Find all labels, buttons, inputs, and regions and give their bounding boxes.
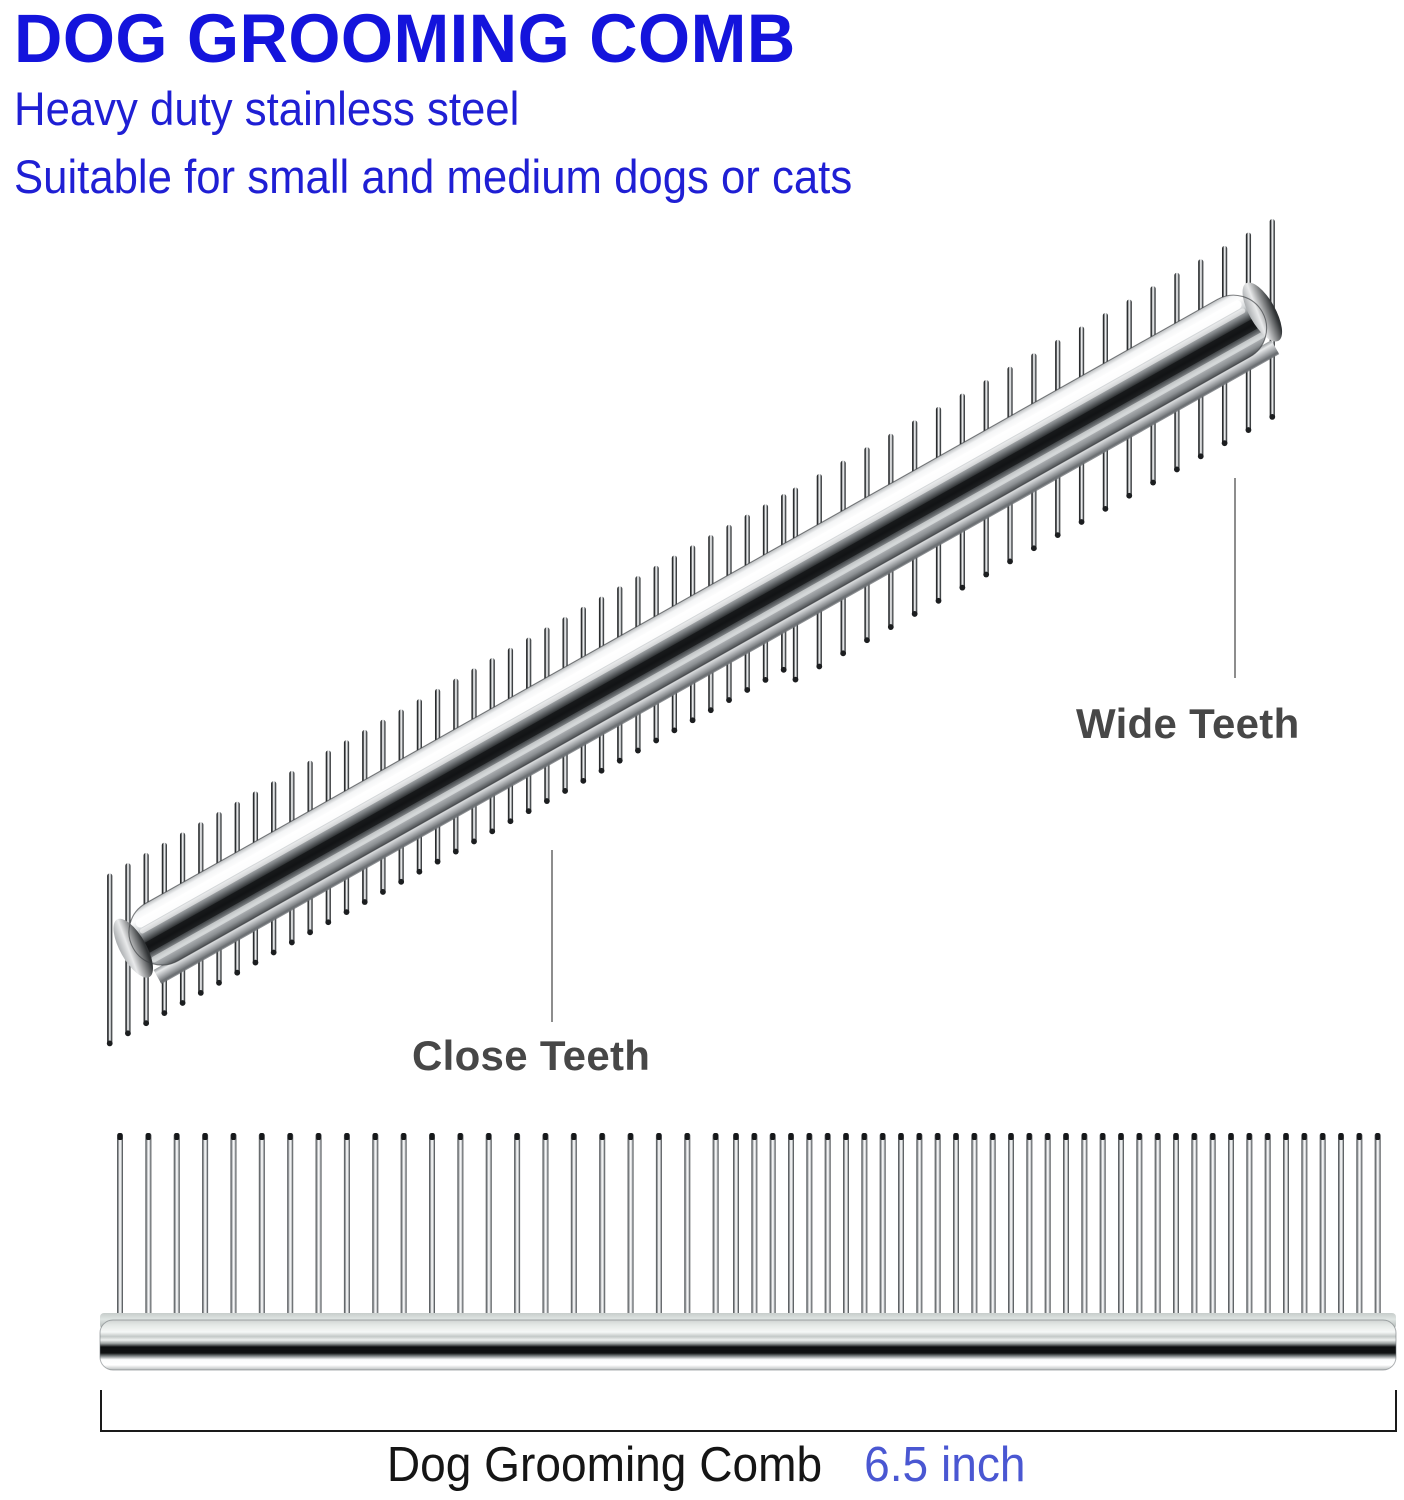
comb-tooth-tip [840, 650, 846, 656]
comb-tooth [953, 1133, 959, 1327]
comb-tooth-tip [161, 1010, 167, 1016]
comb-tooth-tip [807, 1133, 812, 1140]
comb-tooth-tip [1082, 1133, 1087, 1140]
comb-tooth [1191, 1133, 1197, 1327]
comb-tooth-tip [1198, 453, 1204, 459]
comb-tooth-tip [1320, 1133, 1325, 1140]
comb-tooth-tip [899, 1133, 904, 1140]
comb-tooth [713, 1133, 719, 1327]
comb-tooth [898, 1133, 904, 1327]
comb-tooth [1045, 1133, 1051, 1327]
comb-tooth-tip [1055, 532, 1061, 538]
comb-tooth [372, 1133, 378, 1327]
comb-tooth-tip [1174, 467, 1180, 473]
comb-tooth [990, 1133, 996, 1327]
comb-tooth-tip [954, 1133, 959, 1140]
comb-tooth-tip [1126, 493, 1132, 499]
comb-elevation-illustration [0, 1105, 1404, 1395]
comb-tooth-tip [216, 980, 222, 986]
caption-product-name: Dog Grooming Comb [387, 1437, 822, 1493]
comb-tooth-tip [562, 788, 568, 794]
comb-tooth [1356, 1133, 1362, 1327]
comb-tooth-tip [515, 1133, 520, 1140]
comb-tooth [1100, 1133, 1106, 1327]
comb-tooth-tip [825, 1133, 830, 1140]
comb-tooth-tip [690, 717, 696, 723]
comb-tooth-tip [844, 1133, 849, 1140]
comb-tooth-tip [880, 1133, 885, 1140]
caption-size: 6.5 inch [864, 1437, 1025, 1493]
comb-tooth [1155, 1133, 1161, 1327]
comb-tooth-tip [653, 738, 659, 744]
comb-tooth-tip [401, 1133, 406, 1140]
comb-tooth-tip [416, 869, 422, 875]
comb-tooth-tip [685, 1133, 690, 1140]
comb-tooth [542, 1133, 548, 1327]
comb-tooth-tip [635, 748, 641, 754]
comb-tooth-tip [1155, 1133, 1160, 1140]
comb-tooth [259, 1133, 265, 1327]
comb-tooth [1228, 1133, 1234, 1327]
comb-tooth-tip [781, 667, 787, 673]
comb-tooth [230, 1133, 236, 1327]
comb-tooth-tip [398, 879, 404, 885]
comb-tooth-tip [793, 677, 799, 683]
comb-tooth-tip [580, 778, 586, 784]
comb-tooth-tip [1302, 1133, 1307, 1140]
comb-tooth [1246, 1133, 1252, 1327]
comb-tooth [1063, 1133, 1069, 1327]
bracket-tick-right [1395, 1390, 1397, 1432]
comb-tooth [145, 1133, 151, 1327]
comb-angled-illustration [0, 130, 1404, 1090]
comb-tooth-tip [752, 1133, 757, 1140]
comb-tooth-tip [143, 1020, 149, 1026]
comb-tooth-tip [1357, 1133, 1362, 1140]
comb-tooth-tip [617, 758, 623, 764]
comb-tooth [806, 1133, 812, 1327]
comb-tooth-tip [125, 1030, 131, 1036]
comb-tooth [1026, 1133, 1032, 1327]
comb-tooth-tip [789, 1133, 794, 1140]
comb-tooth-tip [972, 1133, 977, 1140]
comb-tooth [174, 1133, 180, 1327]
page-title: DOG GROOMING COMB [14, 0, 1353, 78]
comb-tooth-tip [628, 1133, 633, 1140]
comb-tooth-tip [1339, 1133, 1344, 1140]
comb-tooth-tip [253, 960, 259, 966]
comb-tooth [861, 1133, 867, 1327]
comb-tooth-tip [959, 585, 965, 591]
comb-tooth [1118, 1133, 1124, 1327]
comb-tooth-tip [259, 1133, 264, 1140]
comb-tooth-tip [430, 1133, 435, 1140]
comb-tooth-tip [983, 572, 989, 578]
bracket-baseline [100, 1430, 1397, 1432]
comb-tooth-tip [1269, 414, 1275, 420]
comb-tooth [457, 1133, 463, 1327]
comb-tooth-tip [734, 1133, 739, 1140]
bracket-tick-left [100, 1390, 102, 1432]
callout-label-close-teeth: Close Teeth [412, 1032, 650, 1080]
comb-tooth [788, 1133, 794, 1327]
comb-tooth [1081, 1133, 1087, 1327]
callout-leader-line-wide [1234, 478, 1236, 678]
comb-tooth [1265, 1133, 1271, 1327]
comb-tooth-tip [1031, 545, 1037, 551]
comb-tooth-tip [713, 1133, 718, 1140]
comb-tooth-tip [373, 1133, 378, 1140]
comb-tooth-tip [1229, 1133, 1234, 1140]
comb-tooth [316, 1133, 322, 1327]
comb-tooth-tip [234, 970, 240, 976]
product-infographic: DOG GROOMING COMB Heavy duty stainless s… [0, 0, 1404, 1500]
comb-elevation-teeth-group [117, 1133, 1381, 1327]
comb-tooth-tip [1027, 1133, 1032, 1140]
comb-tooth [117, 1133, 123, 1327]
comb-tooth-tip [198, 990, 204, 996]
comb-tooth [287, 1133, 293, 1327]
comb-tooth [628, 1133, 634, 1327]
comb-tooth-tip [1246, 427, 1252, 433]
comb-tooth-tip [1247, 1133, 1252, 1140]
comb-tooth-tip [1064, 1133, 1069, 1140]
comb-tooth [202, 1133, 208, 1327]
comb-tooth-tip [289, 940, 295, 946]
comb-tooth [751, 1133, 757, 1327]
comb-tooth-tip [453, 849, 459, 855]
comb-tooth [684, 1133, 690, 1327]
comb-tooth-tip [526, 808, 532, 814]
comb-tooth-tip [1150, 480, 1156, 486]
caption: Dog Grooming Comb 6.5 inch [0, 1437, 1404, 1493]
comb-handle [106, 277, 1296, 994]
comb-tooth-tip [744, 687, 750, 693]
comb-tooth-tip [316, 1133, 321, 1140]
comb-tooth-tip [708, 707, 714, 713]
comb-tooth-tip [1045, 1133, 1050, 1140]
comb-tooth [843, 1133, 849, 1327]
comb-tooth-tip [864, 637, 870, 643]
comb-tooth-tip [1210, 1133, 1215, 1140]
comb-tooth-tip [1265, 1133, 1270, 1140]
dimension-bracket [100, 1390, 1397, 1432]
comb-tooth [599, 1133, 605, 1327]
comb-tooth [1210, 1133, 1216, 1327]
comb-tooth [344, 1133, 350, 1327]
callout-leader-line-close [551, 850, 553, 1022]
comb-tooth-tip [380, 889, 386, 895]
comb-tooth-tip [671, 727, 677, 733]
comb-tooth [1338, 1133, 1344, 1327]
comb-tooth-tip [1284, 1133, 1289, 1140]
comb-tooth-tip [990, 1133, 995, 1140]
comb-tooth-tip [1007, 558, 1013, 564]
comb-tooth [401, 1133, 407, 1327]
subtitle-line-1: Heavy duty stainless steel [14, 80, 1297, 137]
comb-tooth [107, 873, 112, 1045]
comb-tooth [1320, 1133, 1326, 1327]
comb-tooth-tip [599, 768, 605, 774]
comb-tooth-tip [231, 1133, 236, 1140]
comb-tooth [1301, 1133, 1307, 1327]
comb-tooth-tip [1079, 519, 1085, 525]
comb-tooth-tip [543, 1133, 548, 1140]
comb-tooth-tip [770, 1133, 775, 1140]
comb-tooth-tip [1192, 1133, 1197, 1140]
comb-tooth [1375, 1133, 1381, 1327]
comb-tooth-tip [912, 611, 918, 617]
comb-tooth [486, 1133, 492, 1327]
comb-tooth-tip [888, 624, 894, 630]
comb-tooth-tip [600, 1133, 605, 1140]
comb-tooth-tip [935, 1133, 940, 1140]
comb-tooth-tip [471, 839, 477, 845]
comb-tooth-tip [816, 664, 822, 670]
comb-tooth [916, 1133, 922, 1327]
comb-tooth-tip [362, 899, 368, 905]
comb-tooth [571, 1133, 577, 1327]
comb-tooth-tip [118, 1133, 123, 1140]
comb-tooth-tip [508, 818, 514, 824]
comb-tooth-tip [1102, 506, 1108, 512]
comb-tooth [880, 1133, 886, 1327]
comb-tooth [1136, 1133, 1142, 1327]
comb-tooth-tip [1009, 1133, 1014, 1140]
comb-tooth-tip [1100, 1133, 1105, 1140]
comb-tooth [514, 1133, 520, 1327]
comb-tooth-tip [571, 1133, 576, 1140]
callout-label-wide-teeth: Wide Teeth [1076, 700, 1300, 748]
comb-tooth [971, 1133, 977, 1327]
comb-tooth [1008, 1133, 1014, 1327]
comb-tooth-tip [345, 1133, 350, 1140]
comb-tooth-tip [936, 598, 942, 604]
comb-tooth-tip [180, 1000, 186, 1006]
comb-tooth [1173, 1133, 1179, 1327]
comb-tooth-tip [917, 1133, 922, 1140]
comb-tooth [656, 1133, 662, 1327]
comb-tooth-tip [544, 798, 550, 804]
comb-tooth-tip [726, 697, 732, 703]
comb-tooth-tip [325, 919, 331, 925]
comb-tooth [429, 1133, 435, 1327]
comb-tooth-tip [862, 1133, 867, 1140]
comb-tooth-tip [458, 1133, 463, 1140]
comb-tooth-tip [489, 828, 495, 834]
comb-tooth-tip [435, 859, 441, 865]
comb-tooth-tip [271, 950, 277, 956]
comb-tooth-tip [1222, 440, 1228, 446]
comb-tooth-tip [486, 1133, 491, 1140]
comb-tooth-tip [107, 1040, 113, 1046]
comb-tooth-tip [1174, 1133, 1179, 1140]
comb-tooth [1283, 1133, 1289, 1327]
comb-tooth [825, 1133, 831, 1327]
comb-tooth [733, 1133, 739, 1327]
comb-tooth-tip [146, 1133, 151, 1140]
comb-tooth-tip [203, 1133, 208, 1140]
comb-tooth-tip [344, 909, 350, 915]
comb-tooth-tip [657, 1133, 662, 1140]
comb-tooth-tip [1375, 1133, 1380, 1140]
comb-tooth [935, 1133, 941, 1327]
comb-tooth-tip [1137, 1133, 1142, 1140]
comb-tooth-tip [288, 1133, 293, 1140]
comb-tooth-tip [174, 1133, 179, 1140]
comb-tooth-tip [1119, 1133, 1124, 1140]
comb-tooth-tip [763, 677, 769, 683]
comb-tooth [770, 1133, 776, 1327]
comb-tooth-tip [307, 929, 313, 935]
